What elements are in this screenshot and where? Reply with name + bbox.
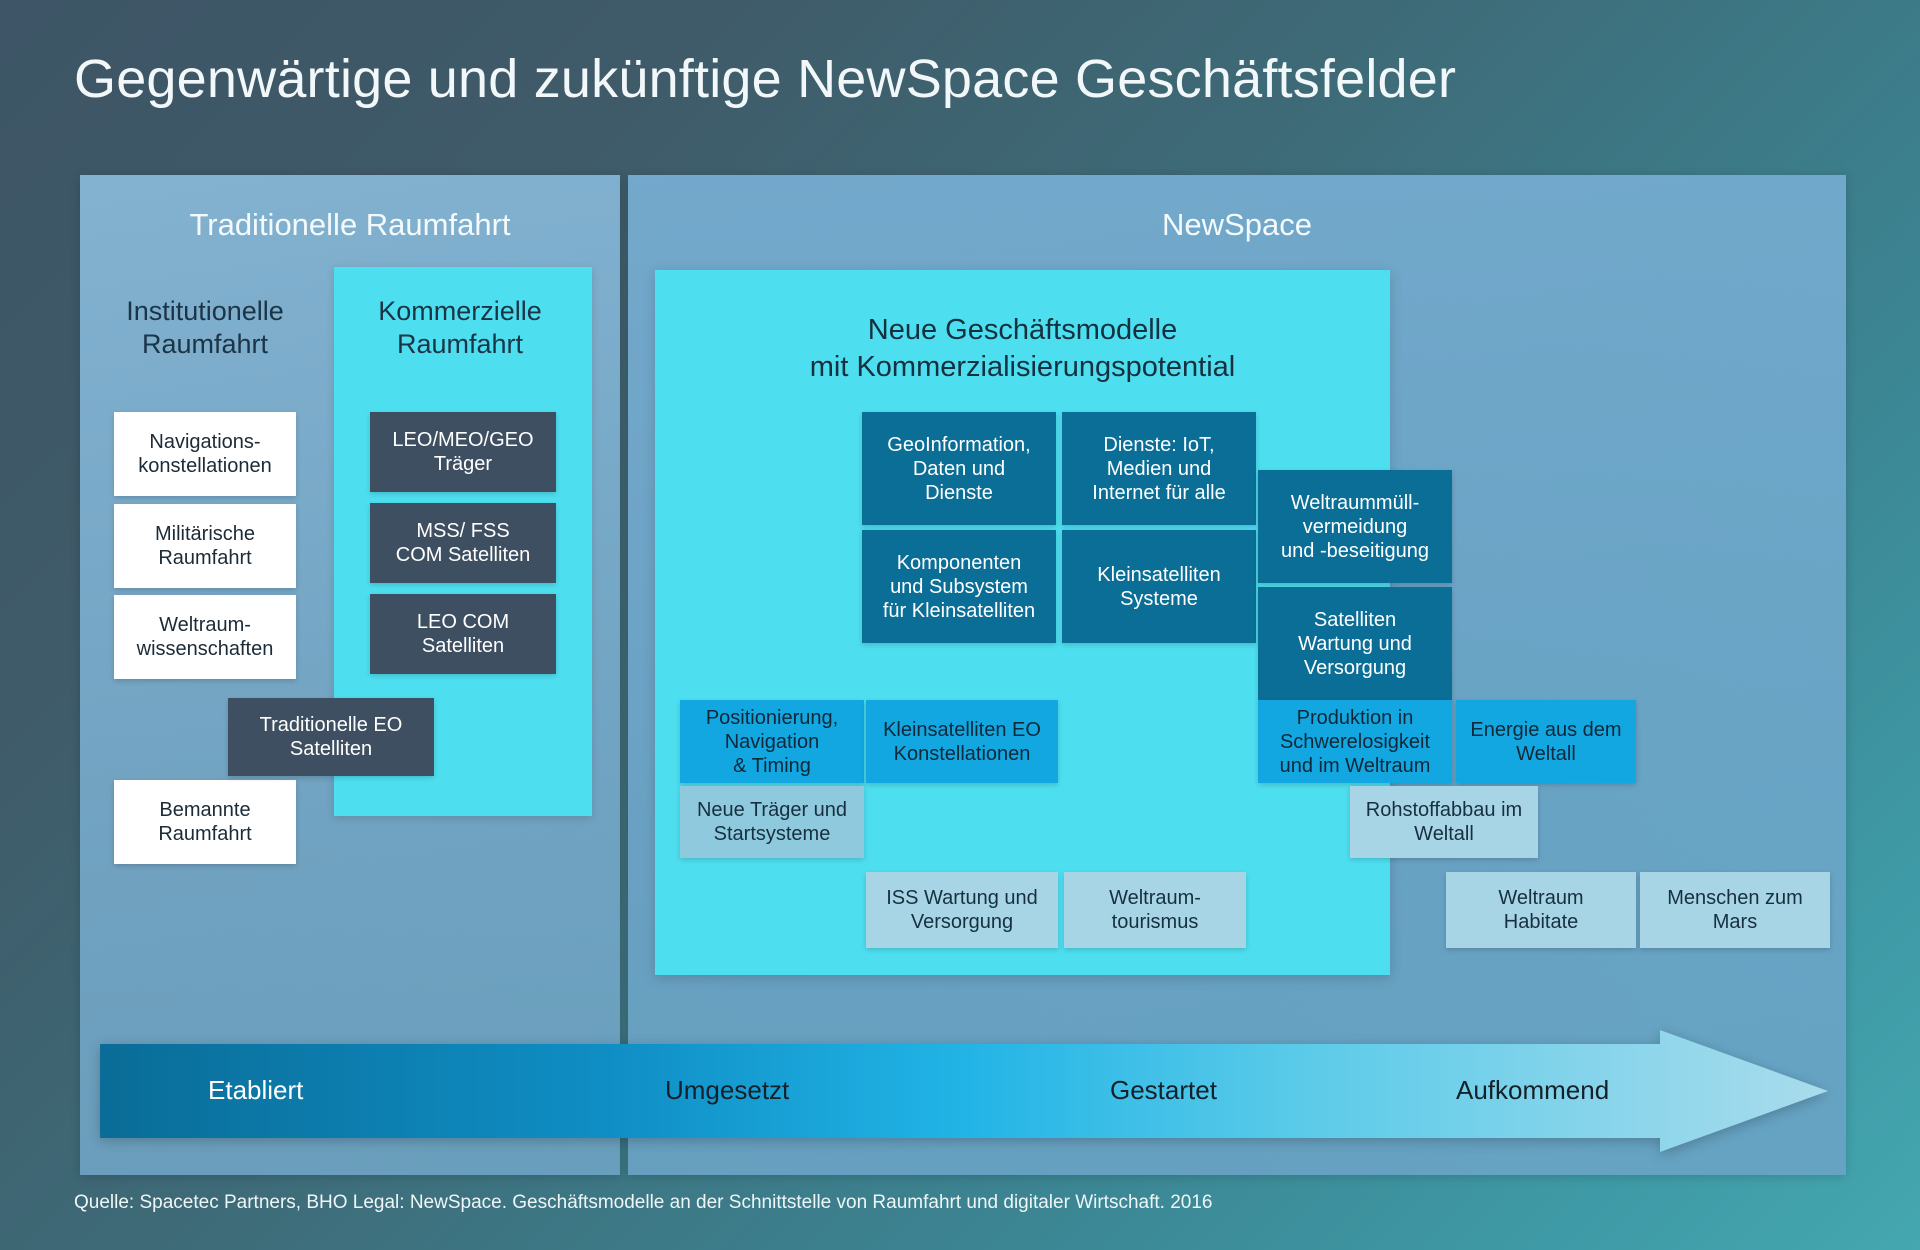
- box-iss-servicing-line1: ISS Wartung und: [886, 886, 1038, 910]
- box-components-line3: für Kleinsatelliten: [883, 599, 1035, 623]
- box-geoinformation-line3: Dienste: [887, 481, 1030, 505]
- heading-institutional-line1: Institutionelle: [100, 295, 310, 328]
- box-space-based-energy[interactable]: Energie aus dem Weltall: [1456, 700, 1636, 783]
- box-traditional-eo-satellites-line2: Satelliten: [260, 737, 403, 761]
- box-smallsat-eo-line2: Konstellationen: [883, 742, 1041, 766]
- new-business-models-title-line2: mit Kommerzialisierungspotential: [655, 349, 1390, 386]
- heading-commercial-line1: Kommerzielle: [345, 295, 575, 328]
- box-mss-fss-com-satellites[interactable]: MSS/ FSS COM Satelliten: [370, 503, 556, 583]
- box-iss-servicing[interactable]: ISS Wartung und Versorgung: [866, 872, 1058, 948]
- page-title: Gegenwärtige und zukünftige NewSpace Ges…: [74, 48, 1456, 110]
- box-pnt-line1: Positionierung,: [706, 706, 838, 730]
- box-satellite-servicing-line2: Wartung und: [1298, 632, 1412, 656]
- box-leo-com-satellites-line1: LEO COM: [417, 610, 509, 634]
- infographic-canvas: Gegenwärtige und zukünftige NewSpace Ges…: [0, 0, 1920, 1250]
- source-citation: Quelle: Spacetec Partners, BHO Legal: Ne…: [74, 1192, 1212, 1214]
- stage-label-aufkommend: Aufkommend: [1456, 1075, 1609, 1106]
- box-smallsat-systems-line2: Systeme: [1097, 587, 1220, 611]
- box-space-tourism-line2: tourismus: [1109, 910, 1201, 934]
- box-space-habitats[interactable]: Weltraum Habitate: [1446, 872, 1636, 948]
- box-traditional-eo-satellites-line1: Traditionelle EO: [260, 713, 403, 737]
- new-business-models-title: Neue Geschäftsmodelle mit Kommerzialisie…: [655, 312, 1390, 386]
- box-space-mining-line1: Rohstoffabbau im: [1366, 798, 1522, 822]
- box-services-iot-line2: Medien und: [1092, 457, 1225, 481]
- box-space-habitats-line2: Habitate: [1498, 910, 1583, 934]
- box-production-microgravity-line3: und im Weltraum: [1280, 754, 1431, 778]
- stage-label-umgesetzt: Umgesetzt: [665, 1075, 789, 1106]
- box-space-tourism[interactable]: Weltraum- tourismus: [1064, 872, 1246, 948]
- box-human-spaceflight-line1: Bemannte: [158, 798, 251, 822]
- box-military-space-line2: Raumfahrt: [155, 546, 255, 570]
- box-production-microgravity[interactable]: Produktion in Schwerelosigkeit und im We…: [1258, 700, 1452, 783]
- box-space-debris-line1: Weltraummüll-: [1281, 491, 1429, 515]
- box-satellite-servicing-line3: Versorgung: [1298, 656, 1412, 680]
- box-space-debris-line3: und -beseitigung: [1281, 539, 1429, 563]
- box-space-based-energy-line2: Weltall: [1470, 742, 1621, 766]
- box-human-spaceflight-line2: Raumfahrt: [158, 822, 251, 846]
- box-space-debris-mitigation[interactable]: Weltraummüll- vermeidung und -beseitigun…: [1258, 470, 1452, 583]
- box-geoinformation-data-services[interactable]: GeoInformation, Daten und Dienste: [862, 412, 1056, 525]
- box-space-tourism-line1: Weltraum-: [1109, 886, 1201, 910]
- panel-right-title: NewSpace: [628, 207, 1846, 243]
- maturity-arrow: Etabliert Umgesetzt Gestartet Aufkommend: [100, 1030, 1828, 1152]
- box-new-launchers-line2: Startsysteme: [697, 822, 847, 846]
- box-mss-fss-com-satellites-line2: COM Satelliten: [396, 543, 531, 567]
- new-business-models-title-line1: Neue Geschäftsmodelle: [655, 312, 1390, 349]
- box-pnt-line3: & Timing: [706, 754, 838, 778]
- box-smallsat-systems[interactable]: Kleinsatelliten Systeme: [1062, 530, 1256, 643]
- box-new-launchers[interactable]: Neue Träger und Startsysteme: [680, 786, 864, 858]
- box-space-habitats-line1: Weltraum: [1498, 886, 1583, 910]
- box-leo-com-satellites-line2: Satelliten: [417, 634, 509, 658]
- box-iss-servicing-line2: Versorgung: [886, 910, 1038, 934]
- box-space-based-energy-line1: Energie aus dem: [1470, 718, 1621, 742]
- box-production-microgravity-line1: Produktion in: [1280, 706, 1431, 730]
- box-navigation-constellations-line2: konstellationen: [138, 454, 271, 478]
- box-navigation-constellations-line1: Navigations-: [138, 430, 271, 454]
- box-smallsat-eo-constellations[interactable]: Kleinsatelliten EO Konstellationen: [866, 700, 1058, 783]
- box-space-sciences-line1: Weltraum-: [137, 613, 274, 637]
- box-space-mining[interactable]: Rohstoffabbau im Weltall: [1350, 786, 1538, 858]
- box-components-subsystems-smallsats[interactable]: Komponenten und Subsystem für Kleinsatel…: [862, 530, 1056, 643]
- heading-institutional-space: Institutionelle Raumfahrt: [100, 295, 310, 361]
- box-services-iot-media-internet[interactable]: Dienste: IoT, Medien und Internet für al…: [1062, 412, 1256, 525]
- box-leo-meo-geo-launcher[interactable]: LEO/MEO/GEO Träger: [370, 412, 556, 492]
- stage-label-gestartet: Gestartet: [1110, 1075, 1217, 1106]
- box-pnt[interactable]: Positionierung, Navigation & Timing: [680, 700, 864, 783]
- box-leo-meo-geo-launcher-line2: Träger: [392, 452, 533, 476]
- box-components-line2: und Subsystem: [883, 575, 1035, 599]
- box-humans-to-mars-line2: Mars: [1667, 910, 1803, 934]
- panel-left-title: Traditionelle Raumfahrt: [80, 207, 620, 243]
- box-leo-com-satellites[interactable]: LEO COM Satelliten: [370, 594, 556, 674]
- box-navigation-constellations[interactable]: Navigations- konstellationen: [114, 412, 296, 496]
- box-smallsat-systems-line1: Kleinsatelliten: [1097, 563, 1220, 587]
- box-production-microgravity-line2: Schwerelosigkeit: [1280, 730, 1431, 754]
- box-geoinformation-line1: GeoInformation,: [887, 433, 1030, 457]
- heading-commercial-line2: Raumfahrt: [345, 328, 575, 361]
- box-military-space-line1: Militärische: [155, 522, 255, 546]
- box-space-sciences-line2: wissenschaften: [137, 637, 274, 661]
- box-humans-to-mars-line1: Menschen zum: [1667, 886, 1803, 910]
- box-space-sciences[interactable]: Weltraum- wissenschaften: [114, 595, 296, 679]
- box-leo-meo-geo-launcher-line1: LEO/MEO/GEO: [392, 428, 533, 452]
- box-components-line1: Komponenten: [883, 551, 1035, 575]
- heading-institutional-line2: Raumfahrt: [100, 328, 310, 361]
- box-space-debris-line2: vermeidung: [1281, 515, 1429, 539]
- box-human-spaceflight[interactable]: Bemannte Raumfahrt: [114, 780, 296, 864]
- box-services-iot-line1: Dienste: IoT,: [1092, 433, 1225, 457]
- box-satellite-servicing-line1: Satelliten: [1298, 608, 1412, 632]
- box-geoinformation-line2: Daten und: [887, 457, 1030, 481]
- box-pnt-line2: Navigation: [706, 730, 838, 754]
- box-military-space[interactable]: Militärische Raumfahrt: [114, 504, 296, 588]
- box-mss-fss-com-satellites-line1: MSS/ FSS: [396, 519, 531, 543]
- box-space-mining-line2: Weltall: [1366, 822, 1522, 846]
- box-smallsat-eo-line1: Kleinsatelliten EO: [883, 718, 1041, 742]
- box-satellite-servicing[interactable]: Satelliten Wartung und Versorgung: [1258, 587, 1452, 700]
- box-new-launchers-line1: Neue Träger und: [697, 798, 847, 822]
- heading-commercial-space: Kommerzielle Raumfahrt: [345, 295, 575, 361]
- box-services-iot-line3: Internet für alle: [1092, 481, 1225, 505]
- stage-label-etabliert: Etabliert: [208, 1075, 303, 1106]
- box-traditional-eo-satellites[interactable]: Traditionelle EO Satelliten: [228, 698, 434, 776]
- box-humans-to-mars[interactable]: Menschen zum Mars: [1640, 872, 1830, 948]
